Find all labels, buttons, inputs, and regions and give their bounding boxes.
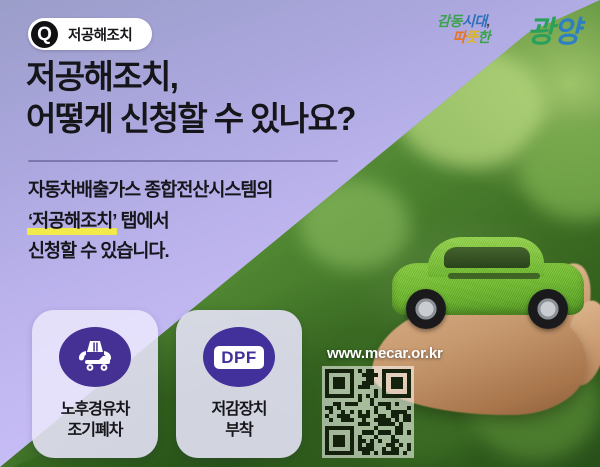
scrap-car-icon — [59, 327, 131, 387]
city-logo-line1-seg2: 시대 — [462, 13, 487, 29]
question-badge-label: 저공해조치 — [68, 24, 132, 45]
body-highlight: ‘저공해조치’ — [28, 206, 116, 237]
body-line-2-rest: 탭에서 — [116, 210, 168, 231]
site-url[interactable]: www.mecar.or.kr — [327, 345, 443, 362]
feature-card-scrap-car[interactable]: 노후경유차 조기폐차 — [32, 310, 158, 458]
city-logo-line2-seg2: 뜻 — [465, 29, 477, 45]
body-line-3: 신청할 수 있습니다. — [28, 236, 272, 267]
foliage-blur-1 — [395, 48, 545, 168]
dpf-icon-text: DPF — [214, 346, 264, 369]
car-wheel-front — [406, 289, 446, 329]
city-logo-name-part2: 양 — [553, 16, 580, 49]
qr-code[interactable] — [322, 366, 414, 458]
city-logo-name: 광양 — [527, 18, 580, 48]
grass-car-icon — [392, 237, 584, 323]
page-title: 저공해조치, 어떻게 신청할 수 있나요? — [26, 56, 355, 140]
feature-card-scrap-car-label: 노후경유차 조기폐차 — [61, 400, 130, 442]
city-logo-line1-seg3: , — [487, 13, 490, 29]
divider — [28, 160, 338, 162]
gwangyang-city-logo: 감동시대, 따뜻한 광양 — [352, 14, 582, 62]
city-logo-line1-seg1: 감동 — [437, 13, 462, 29]
body-copy: 자동차배출가스 종합전산시스템의 ‘저공해조치’ 탭에서 신청할 수 있습니다. — [28, 175, 272, 267]
question-badge: Q 저공해조치 — [28, 18, 152, 50]
q-marker-icon: Q — [31, 21, 58, 48]
city-logo-line2: 따뜻한 — [352, 30, 490, 44]
car-window — [444, 247, 530, 268]
car-sill — [448, 273, 540, 279]
city-logo-line2-seg3: 한 — [478, 29, 490, 45]
feature-card-dpf[interactable]: DPF 저감장치 부착 — [176, 310, 302, 458]
city-logo-line1: 감동시대, — [352, 14, 490, 28]
poster-root: Q 저공해조치 감동시대, 따뜻한 광양 저공해조치, 어떻게 신청할 수 있나… — [0, 0, 600, 467]
city-logo-line2-seg1: 따 — [453, 29, 465, 45]
car-wheel-rear — [528, 289, 568, 329]
city-logo-name-part1: 광 — [527, 16, 554, 49]
body-line-2: ‘저공해조치’ 탭에서 — [28, 206, 272, 237]
feature-card-dpf-label: 저감장치 부착 — [212, 400, 267, 442]
body-line-1: 자동차배출가스 종합전산시스템의 — [28, 175, 272, 206]
dpf-icon: DPF — [203, 327, 275, 387]
